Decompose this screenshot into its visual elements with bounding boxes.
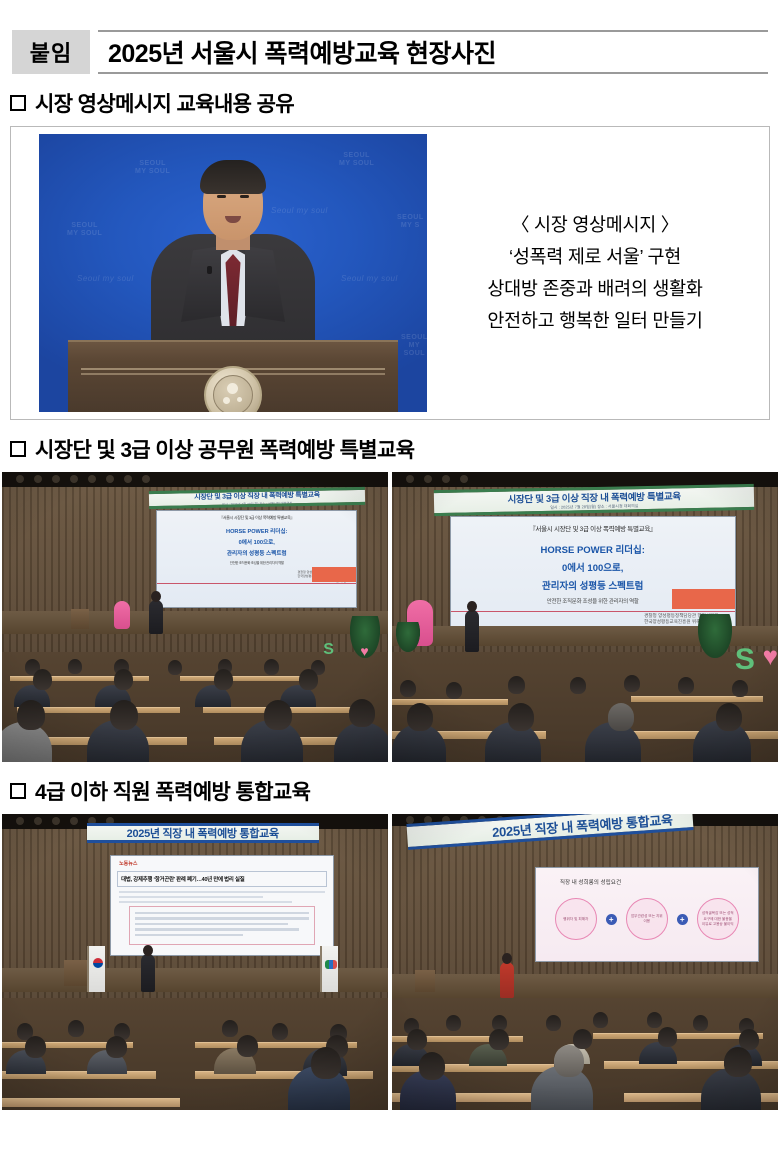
photo-staff-training-left: 2025년 직장 내 폭력예방 통합교육 노동뉴스 대법, 강제추행 ‘항거곤란… — [2, 814, 388, 1110]
attendee-shoulders — [334, 722, 388, 762]
backdrop-watermark: SEOULMY SOUL — [401, 334, 427, 358]
document-header: 붙임 2025년 서울시 폭력예방교육 현장사진 — [12, 30, 768, 74]
attendee-head — [25, 1036, 46, 1058]
ceiling-light-icon — [406, 475, 414, 483]
ceiling-light-icon — [142, 475, 150, 483]
slide-body-lines — [119, 891, 325, 903]
message-line-3: 상대방 존중과 배려의 생활화 — [427, 273, 763, 305]
audience-area — [392, 632, 778, 763]
eye-left — [217, 195, 226, 198]
banner-subtitle: 일시 : 2025년 7월 28일(월) 장소 : 서울시청 대회의실 — [222, 500, 292, 506]
diagram-circle-2: 업무관련성 또는 지위 이용 — [626, 898, 668, 940]
slide-diagram: 행위자 및 피해자 + 업무관련성 또는 지위 이용 + 성적굴욕감 또는 성적… — [536, 898, 758, 940]
slide-heading-1: HORSE POWER 리더십: — [157, 527, 356, 535]
attendee-head — [732, 680, 748, 697]
photo-row-executive-training: 시장단 및 3급 이상 직장 내 폭력예방 특별교육 일시 : 2025년 7월… — [2, 472, 778, 762]
section-title-mayor-video: 시장 영상메시지 교육내용 공유 — [35, 88, 294, 118]
ceiling-light-icon — [34, 817, 42, 825]
attendee-head — [407, 703, 433, 731]
attendee-head — [214, 669, 233, 690]
projection-screen: 직장 내 성희롱의 성립요건 행위자 및 피해자 + 업무관련성 또는 지위 이… — [535, 867, 759, 962]
slide-headline: 대법, 강제추행 ‘항거곤란’ 판례 폐기…40년 만에 법리 실질 — [117, 871, 327, 887]
slide-divider — [451, 611, 735, 612]
section-heading-staff-training: 4급 이하 직원 폭력예방 통합교육 — [10, 776, 780, 806]
attendee-head — [349, 699, 375, 727]
audience-area — [392, 974, 778, 1110]
attendee-head — [608, 703, 634, 731]
checkbox-icon — [10, 95, 26, 111]
slide-title: 『서울시 시장단 및 3급 이상 폭력예방 특별교육』 — [157, 515, 356, 521]
photo-executive-training-left: 시장단 및 3급 이상 직장 내 폭력예방 특별교육 일시 : 2025년 7월… — [2, 472, 388, 762]
ceiling-light-icon — [34, 475, 42, 483]
event-banner: 2025년 직장 내 폭력예방 통합교육 — [87, 823, 319, 843]
seoul-government-emblem-icon — [204, 366, 262, 412]
backdrop-watermark: SEOULMY SOUL — [67, 222, 102, 238]
mayor-message-text: 〈 시장 영상메시지 〉 ‘성폭력 제로 서울’ 구현 상대방 존중과 배려의 … — [427, 209, 769, 336]
event-banner: 시장단 및 3급 이상 직장 내 폭력예방 특별교육 일시 : 2025년 7월… — [434, 483, 755, 515]
backdrop-watermark: SEOULMY S — [397, 214, 424, 230]
diagram-circle-1: 행위자 및 피해자 — [555, 898, 597, 940]
page-title: 2025년 서울시 폭력예방교육 현장사진 — [108, 34, 496, 70]
attendee-head — [419, 1052, 445, 1080]
attendee-head — [716, 703, 742, 731]
ceiling-light-icon — [124, 475, 132, 483]
hair — [200, 160, 266, 194]
ceiling-light-icon — [424, 475, 432, 483]
plus-operator-icon: + — [606, 914, 617, 925]
photo-row-staff-training: 2025년 직장 내 폭력예방 통합교육 노동뉴스 대법, 강제추행 ‘항거곤란… — [2, 814, 778, 1110]
ceiling-light-icon — [460, 475, 468, 483]
attendee-head — [647, 1012, 662, 1028]
projection-screen: 『서울시 시장단 및 3급 이상 폭력예방 특별교육』 HORSE POWER … — [450, 516, 736, 644]
attendee-head — [299, 669, 318, 690]
attendee-head — [264, 659, 279, 675]
attendee-head — [237, 1035, 258, 1057]
eye-right — [240, 195, 249, 198]
attendee-head — [678, 677, 694, 694]
attendee-head — [33, 669, 52, 690]
attendee-head — [407, 1029, 427, 1050]
message-line-1: 〈 시장 영상메시지 〉 — [427, 209, 763, 241]
attendee-head — [264, 700, 292, 730]
attendee-head — [400, 680, 416, 697]
desk-row — [392, 699, 508, 705]
attendee-head — [311, 1047, 341, 1079]
slide-heading-1: HORSE POWER 리더십: — [451, 542, 735, 556]
slide-title: 『서울시 시장단 및 3급 이상 폭력예방 특별교육』 — [451, 523, 735, 533]
ceiling-light-icon — [52, 817, 60, 825]
section-title-staff-training: 4급 이하 직원 폭력예방 통합교육 — [35, 776, 310, 806]
slide-quote-box — [129, 906, 315, 946]
photo-staff-training-right: 2025년 직장 내 폭력예방 통합교육 직장 내 성희롱의 성립요건 행위자 … — [392, 814, 778, 1110]
attendee-head — [546, 1015, 561, 1031]
photo-executive-training-right: 시장단 및 3급 이상 직장 내 폭력예방 특별교육 일시 : 2025년 7월… — [392, 472, 778, 762]
slide-heading-3: 관리자의 성평등 스펙트럼 — [157, 549, 356, 557]
lapel-microphone — [207, 266, 212, 274]
attendee-head — [68, 659, 82, 674]
banner-title: 2025년 직장 내 폭력예방 통합교육 — [127, 825, 279, 841]
desk-row — [180, 676, 311, 681]
slide-accent-block — [312, 567, 356, 582]
ceiling-light-icon — [442, 475, 450, 483]
message-line-2: ‘성폭력 제로 서울’ 구현 — [427, 241, 763, 273]
photo-mayor-video-message: SEOULMY SOUL SEOULMY SOUL SEOULMY SOUL S… — [39, 134, 427, 412]
backdrop-watermark: Seoul my soul — [271, 206, 328, 215]
attendee-head — [446, 1015, 461, 1031]
attendee-head — [724, 1047, 752, 1077]
checkbox-icon — [10, 441, 26, 457]
attendee-head — [508, 676, 525, 694]
message-line-4: 안전하고 행복한 일터 만들기 — [427, 305, 763, 337]
backdrop-watermark: Seoul my soul — [77, 274, 134, 283]
section-heading-executive-training: 시장단 및 3급 이상 공무원 폭력예방 특별교육 — [10, 434, 780, 464]
plus-operator-icon: + — [677, 914, 688, 925]
attendee-head — [222, 1020, 238, 1037]
attendee-head — [114, 669, 133, 690]
backdrop-watermark: Seoul my soul — [341, 274, 398, 283]
attendee-head — [570, 677, 586, 694]
slide-source: 노동뉴스 — [111, 856, 333, 867]
attendee-head — [593, 1012, 608, 1028]
projection-screen: 노동뉴스 대법, 강제추행 ‘항거곤란’ 판례 폐기…40년 만에 법리 실질 — [110, 855, 334, 956]
attendee-head — [554, 1045, 584, 1077]
attendee-head — [573, 1029, 592, 1049]
diagram-circle-3: 성적굴욕감 또는 성적요구에 대한 불응을 이유로 고용상 불이익 — [697, 898, 739, 940]
attendee-head — [508, 703, 534, 731]
attendee-head — [489, 1029, 509, 1050]
backdrop-watermark: SEOULMY SOUL — [135, 160, 170, 176]
desk-row — [593, 1033, 763, 1039]
audience-area — [2, 980, 388, 1110]
attendee-head — [624, 675, 640, 692]
attendee-head — [17, 700, 45, 730]
ceiling-light-icon — [52, 475, 60, 483]
ceiling-light-icon — [70, 817, 78, 825]
slide-heading-2: 0에서 100으로, — [451, 560, 735, 574]
attendee-head — [693, 1015, 708, 1031]
slide-divider — [157, 583, 356, 584]
audience-area — [2, 617, 388, 762]
desk-row — [2, 1098, 180, 1107]
desk-row — [631, 696, 762, 702]
ceiling-light-icon — [106, 475, 114, 483]
emblem-inner — [213, 375, 253, 412]
podium — [68, 340, 398, 412]
section-heading-mayor-video: 시장 영상메시지 교육내용 공유 — [10, 88, 780, 118]
slide-heading-2: 0에서 100으로, — [157, 538, 356, 546]
attendee-head — [658, 1027, 677, 1047]
attendee-head — [68, 1020, 84, 1037]
projection-screen: 『서울시 시장단 및 3급 이상 폭력예방 특별교육』 HORSE POWER … — [156, 510, 357, 609]
banner-subtitle: 일시 : 2025년 7월 28일(월) 장소 : 서울시청 대회의실 — [551, 503, 639, 511]
header-title-bar: 2025년 서울시 폭력예방교육 현장사진 — [98, 30, 768, 74]
attendee-head — [168, 660, 182, 675]
attendee-head — [272, 1023, 288, 1040]
backdrop-watermark: SEOULMY SOUL — [339, 152, 374, 168]
attachment-tag: 붙임 — [12, 30, 90, 74]
checkbox-icon — [10, 783, 26, 799]
attendee-head — [446, 682, 462, 699]
panel-mayor-video: SEOULMY SOUL SEOULMY SOUL SEOULMY SOUL S… — [10, 126, 770, 420]
slide-subtitle: 안전한 조직문화 조성을 위한 관리자의 역할 — [157, 560, 356, 565]
attendee-head — [106, 1036, 127, 1058]
section-title-executive-training: 시장단 및 3급 이상 공무원 폭력예방 특별교육 — [35, 434, 414, 464]
ceiling-light-icon — [16, 817, 24, 825]
banner-title: 시장단 및 3급 이상 직장 내 폭력예방 특별교육 — [508, 488, 682, 505]
slide-accent-block — [672, 589, 734, 609]
ceiling-light-icon — [88, 475, 96, 483]
attendee-head — [110, 700, 138, 730]
slide-title: 직장 내 성희롱의 성립요건 — [536, 868, 758, 886]
ceiling-lights — [2, 472, 388, 487]
ceiling-light-icon — [70, 475, 78, 483]
ceiling-light-icon — [16, 475, 24, 483]
